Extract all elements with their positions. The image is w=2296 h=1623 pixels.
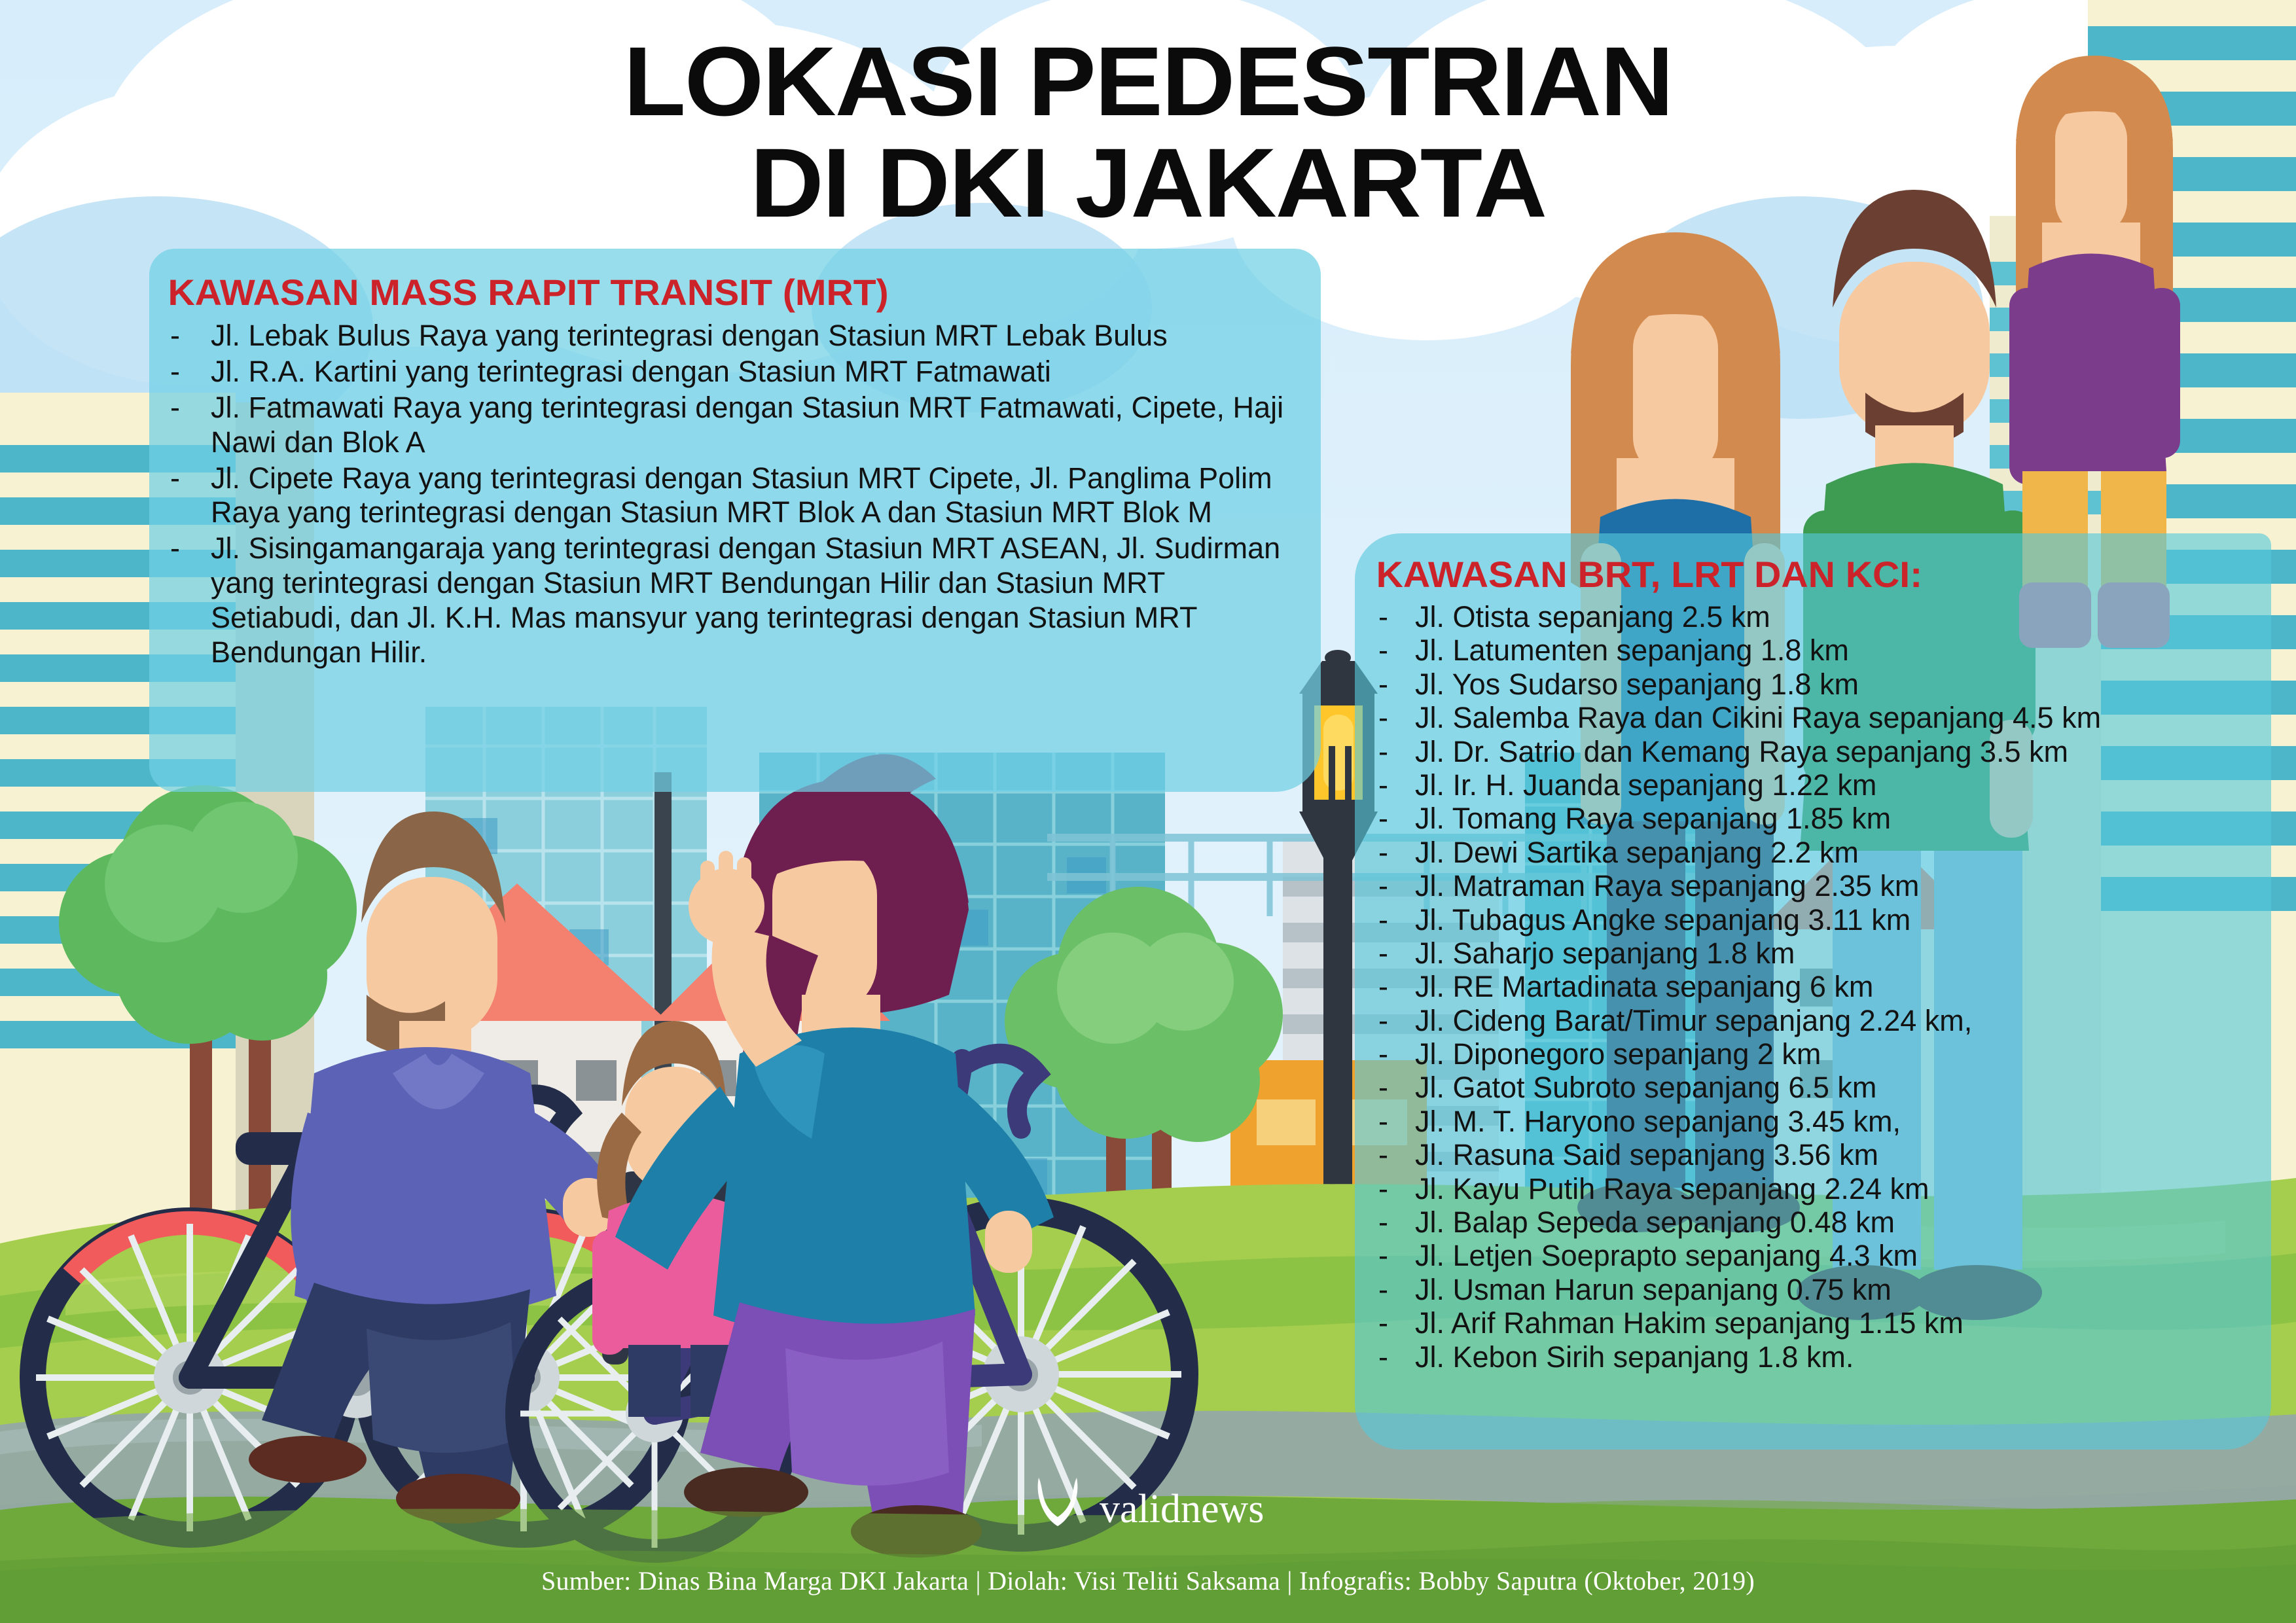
mrt-list-item: -Jl. Cipete Raya yang terintegrasi denga… bbox=[162, 461, 1304, 531]
brt-list-item-text: Jl. M. T. Haryono sepanjang 3.45 km, bbox=[1415, 1105, 2258, 1138]
brt-list-item: -Jl. Saharjo sepanjang 1.8 km bbox=[1371, 937, 2258, 970]
bullet-dash-icon: - bbox=[1371, 802, 1415, 835]
bullet-dash-icon: - bbox=[1371, 1274, 1415, 1306]
panel-brt-list: -Jl. Otista sepanjang 2.5 km-Jl. Latumen… bbox=[1355, 601, 2271, 1374]
mrt-list-item-text: Jl. Sisingamangaraja yang terintegrasi d… bbox=[211, 531, 1304, 670]
brt-list-item: -Jl. Matraman Raya sepanjang 2.35 km bbox=[1371, 870, 2258, 902]
brt-list-item: -Jl. Tomang Raya sepanjang 1.85 km bbox=[1371, 802, 2258, 835]
bullet-dash-icon: - bbox=[1371, 1341, 1415, 1374]
bullet-dash-icon: - bbox=[1371, 1071, 1415, 1104]
bullet-dash-icon: - bbox=[1371, 1173, 1415, 1205]
bullet-dash-icon: - bbox=[1371, 904, 1415, 936]
mrt-list-item-text: Jl. Fatmawati Raya yang terintegrasi den… bbox=[211, 391, 1304, 460]
bullet-dash-icon: - bbox=[1371, 1038, 1415, 1071]
brt-list-item-text: Jl. Arif Rahman Hakim sepanjang 1.15 km bbox=[1415, 1307, 2258, 1340]
brt-list-item-text: Jl. Kayu Putih Raya sepanjang 2.24 km bbox=[1415, 1173, 2258, 1205]
mrt-list-item: -Jl. Sisingamangaraja yang terintegrasi … bbox=[162, 531, 1304, 670]
brt-list-item: -Jl. Cideng Barat/Timur sepanjang 2.24 k… bbox=[1371, 1005, 2258, 1037]
bullet-dash-icon: - bbox=[1371, 971, 1415, 1003]
bullet-dash-icon: - bbox=[162, 319, 211, 353]
bullet-dash-icon: - bbox=[1371, 836, 1415, 869]
brt-list-item-text: Jl. Usman Harun sepanjang 0.75 km bbox=[1415, 1274, 2258, 1306]
bullet-dash-icon: - bbox=[1371, 937, 1415, 970]
brt-list-item-text: Jl. Otista sepanjang 2.5 km bbox=[1415, 601, 2258, 633]
bullet-dash-icon: - bbox=[1371, 702, 1415, 734]
validnews-v-icon bbox=[1032, 1474, 1083, 1541]
brt-list-item-text: Jl. Latumenten sepanjang 1.8 km bbox=[1415, 634, 2258, 667]
mrt-list-item-text: Jl. Cipete Raya yang terintegrasi dengan… bbox=[211, 461, 1304, 531]
brt-list-item-text: Jl. Rasuna Said sepanjang 3.56 km bbox=[1415, 1139, 2258, 1171]
brt-list-item: -Jl. Balap Sepeda sepanjang 0.48 km bbox=[1371, 1206, 2258, 1239]
brt-list-item: -Jl. Tubagus Angke sepanjang 3.11 km bbox=[1371, 904, 2258, 936]
brt-list-item-text: Jl. Cideng Barat/Timur sepanjang 2.24 km… bbox=[1415, 1005, 2258, 1037]
brt-list-item: -Jl. M. T. Haryono sepanjang 3.45 km, bbox=[1371, 1105, 2258, 1138]
brt-list-item: -Jl. Kayu Putih Raya sepanjang 2.24 km bbox=[1371, 1173, 2258, 1205]
brt-list-item-text: Jl. Letjen Soeprapto sepanjang 4.3 km bbox=[1415, 1240, 2258, 1272]
bullet-dash-icon: - bbox=[1371, 870, 1415, 902]
brt-list-item: -Jl. Latumenten sepanjang 1.8 km bbox=[1371, 634, 2258, 667]
brt-list-item-text: Jl. Saharjo sepanjang 1.8 km bbox=[1415, 937, 2258, 970]
mrt-list-item: -Jl. Fatmawati Raya yang terintegrasi de… bbox=[162, 391, 1304, 460]
bullet-dash-icon: - bbox=[1371, 1240, 1415, 1272]
validnews-logo: validnews bbox=[0, 1474, 2296, 1541]
brt-list-item: -Jl. Gatot Subroto sepanjang 6.5 km bbox=[1371, 1071, 2258, 1104]
brt-list-item: -Jl. Usman Harun sepanjang 0.75 km bbox=[1371, 1274, 2258, 1306]
mrt-list-item-text: Jl. R.A. Kartini yang terintegrasi denga… bbox=[211, 355, 1304, 389]
bullet-dash-icon: - bbox=[1371, 1005, 1415, 1037]
mrt-list-item: -Jl. Lebak Bulus Raya yang terintegrasi … bbox=[162, 319, 1304, 353]
bullet-dash-icon: - bbox=[1371, 668, 1415, 701]
brt-list-item-text: Jl. RE Martadinata sepanjang 6 km bbox=[1415, 971, 2258, 1003]
brt-list-item-text: Jl. Tubagus Angke sepanjang 3.11 km bbox=[1415, 904, 2258, 936]
brt-list-item: -Jl. Arif Rahman Hakim sepanjang 1.15 km bbox=[1371, 1307, 2258, 1340]
brt-list-item-text: Jl. Dr. Satrio dan Kemang Raya sepanjang… bbox=[1415, 736, 2258, 768]
panel-brt: KAWASAN BRT, LRT DAN KCI: -Jl. Otista se… bbox=[1355, 533, 2271, 1450]
bullet-dash-icon: - bbox=[162, 531, 211, 566]
brt-list-item: -Jl. Salemba Raya dan Cikini Raya sepanj… bbox=[1371, 702, 2258, 734]
bullet-dash-icon: - bbox=[1371, 1105, 1415, 1138]
bullet-dash-icon: - bbox=[1371, 601, 1415, 633]
brt-list-item: -Jl. Dr. Satrio dan Kemang Raya sepanjan… bbox=[1371, 736, 2258, 768]
mrt-list-item: -Jl. R.A. Kartini yang terintegrasi deng… bbox=[162, 355, 1304, 389]
mrt-list-item-text: Jl. Lebak Bulus Raya yang terintegrasi d… bbox=[211, 319, 1304, 353]
infographic-canvas: LOKASI PEDESTRIAN DI DKI JAKARTA KAWASAN… bbox=[0, 0, 2296, 1623]
brt-list-item-text: Jl. Ir. H. Juanda sepanjang 1.22 km bbox=[1415, 769, 2258, 802]
credit-line: Sumber: Dinas Bina Marga DKI Jakarta | D… bbox=[0, 1565, 2296, 1596]
panel-brt-heading: KAWASAN BRT, LRT DAN KCI: bbox=[1355, 533, 2289, 596]
brt-list-item: -Jl. Otista sepanjang 2.5 km bbox=[1371, 601, 2258, 633]
brt-list-item-text: Jl. Diponegoro sepanjang 2 km bbox=[1415, 1038, 2258, 1071]
brt-list-item: -Jl. Diponegoro sepanjang 2 km bbox=[1371, 1038, 2258, 1071]
brt-list-item-text: Jl. Yos Sudarso sepanjang 1.8 km bbox=[1415, 668, 2258, 701]
brt-list-item-text: Jl. Gatot Subroto sepanjang 6.5 km bbox=[1415, 1071, 2258, 1104]
brt-list-item-text: Jl. Salemba Raya dan Cikini Raya sepanja… bbox=[1415, 702, 2258, 734]
brt-list-item: -Jl. Letjen Soeprapto sepanjang 4.3 km bbox=[1371, 1240, 2258, 1272]
panel-mrt: KAWASAN MASS RAPIT TRANSIT (MRT) -Jl. Le… bbox=[149, 249, 1321, 792]
validnews-wordmark: validnews bbox=[1100, 1487, 1264, 1531]
panel-mrt-list: -Jl. Lebak Bulus Raya yang terintegrasi … bbox=[149, 319, 1321, 670]
brt-list-item: -Jl. Dewi Sartika sepanjang 2.2 km bbox=[1371, 836, 2258, 869]
brt-list-item-text: Jl. Tomang Raya sepanjang 1.85 km bbox=[1415, 802, 2258, 835]
bullet-dash-icon: - bbox=[1371, 1206, 1415, 1239]
brt-list-item: -Jl. Rasuna Said sepanjang 3.56 km bbox=[1371, 1139, 2258, 1171]
brt-list-item: -Jl. Ir. H. Juanda sepanjang 1.22 km bbox=[1371, 769, 2258, 802]
brt-list-item-text: Jl. Dewi Sartika sepanjang 2.2 km bbox=[1415, 836, 2258, 869]
brt-list-item: -Jl. RE Martadinata sepanjang 6 km bbox=[1371, 971, 2258, 1003]
bullet-dash-icon: - bbox=[1371, 1307, 1415, 1340]
bullet-dash-icon: - bbox=[1371, 1139, 1415, 1171]
panel-mrt-heading: KAWASAN MASS RAPIT TRANSIT (MRT) bbox=[149, 249, 1344, 313]
brt-list-item-text: Jl. Matraman Raya sepanjang 2.35 km bbox=[1415, 870, 2258, 902]
brt-list-item-text: Jl. Kebon Sirih sepanjang 1.8 km. bbox=[1415, 1341, 2258, 1374]
brt-list-item: -Jl. Yos Sudarso sepanjang 1.8 km bbox=[1371, 668, 2258, 701]
bullet-dash-icon: - bbox=[1371, 736, 1415, 768]
bullet-dash-icon: - bbox=[162, 355, 211, 389]
bullet-dash-icon: - bbox=[162, 391, 211, 425]
bullet-dash-icon: - bbox=[162, 461, 211, 496]
bullet-dash-icon: - bbox=[1371, 769, 1415, 802]
brt-list-item-text: Jl. Balap Sepeda sepanjang 0.48 km bbox=[1415, 1206, 2258, 1239]
bullet-dash-icon: - bbox=[1371, 634, 1415, 667]
brt-list-item: -Jl. Kebon Sirih sepanjang 1.8 km. bbox=[1371, 1341, 2258, 1374]
